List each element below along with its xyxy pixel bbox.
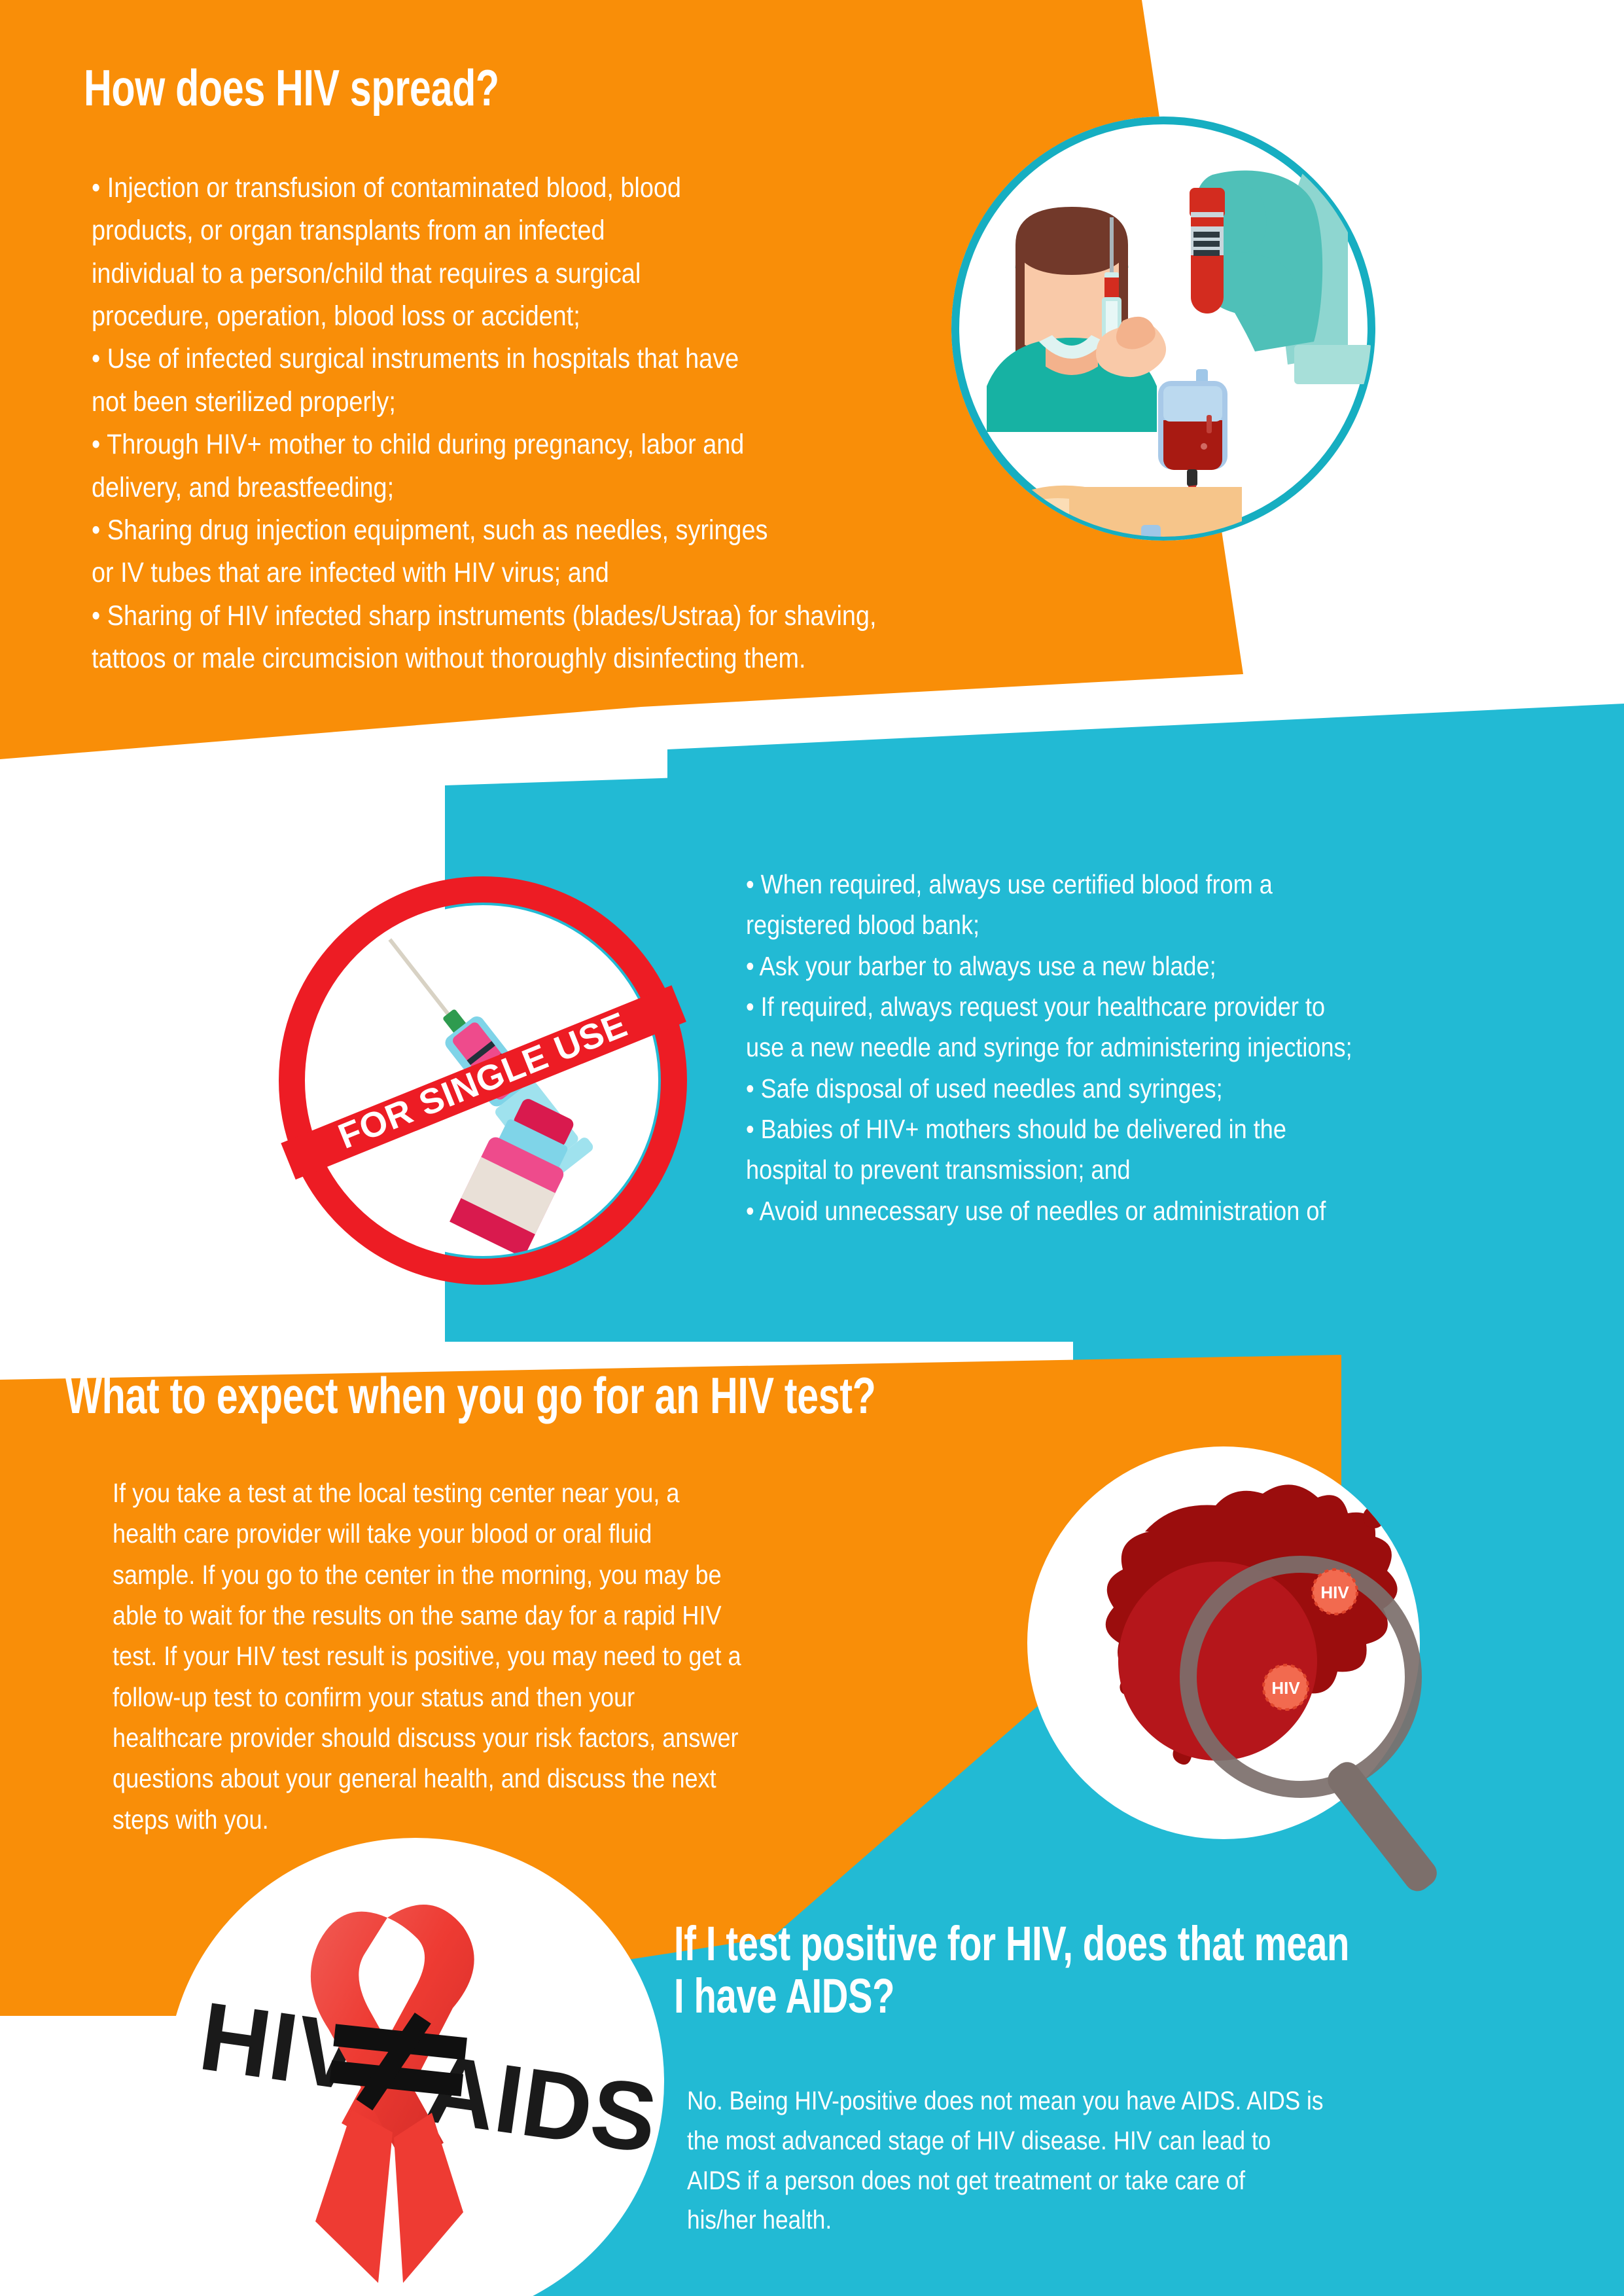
virus-badge-label-2: HIV [1271,1678,1300,1698]
heading-how-can-hiv-transmission-be-prevented: How can HIV transmission be prevented? [0,778,51,831]
body-what-to-expect-hiv-test: If you take a test at the local testing … [113,1473,917,1840]
body-line: If you take a test at the local testing … [113,1473,821,1513]
blood-sample-magnifier-illustration: HIV HIV [1027,1433,1485,1931]
body-line: • Injection or transfusion of contaminat… [92,167,990,209]
body-line: test. If your HIV test result is positiv… [113,1636,821,1676]
body-line: not been sterilized properly; [92,381,990,423]
heading-what-to-expect-hiv-test: What to expect when you go for an HIV te… [65,1368,876,1423]
body-line: • If required, always request your healt… [746,986,1466,1027]
body-if-i-test-positive-aids: No. Being HIV-positive does not mean you… [687,2081,1511,2240]
body-line: follow-up test to confirm your status an… [113,1677,821,1717]
single-use-syringe-prohibition-illustration: FOR SINGLE USE [260,855,705,1300]
body-line: registered blood bank; [746,905,1466,945]
hiv-not-equal-aids-ribbon-illustration: HIV AIDS [157,1852,720,2296]
body-line: • When required, always use certified bl… [746,864,1466,905]
body-line: • Ask your barber to always use a new bl… [746,946,1466,986]
body-line: • Avoid unnecessary use of needles or ad… [746,1191,1466,1231]
heading-how-does-hiv-spread: How does HIV spread? [84,60,499,115]
body-line: questions about your general health, and… [113,1758,821,1799]
body-line: use a new needle and syringe for adminis… [746,1027,1466,1067]
body-line: • Safe disposal of used needles and syri… [746,1068,1466,1109]
body-how-does-hiv-spread: • Injection or transfusion of contaminat… [92,167,1112,680]
body-line: or IV tubes that are infected with HIV v… [92,552,990,594]
body-line: • Through HIV+ mother to child during pr… [92,423,990,466]
body-line: his/her health. [687,2200,1413,2240]
body-line: • Babies of HIV+ mothers should be deliv… [746,1109,1466,1149]
body-line: healthcare provider should discuss your … [113,1717,821,1758]
body-line: sample. If you go to the center in the m… [113,1554,821,1595]
body-line: • Sharing of HIV infected sharp instrume… [92,595,990,637]
blood-test-tube-icon [1190,188,1225,314]
body-line: products, or organ transplants from an i… [92,209,990,252]
body-line: • Sharing drug injection equipment, such… [92,509,990,552]
heading-if-i-test-positive-aids: If I test positive for HIV, does that me… [674,1918,1365,2022]
body-line: able to wait for the results on the same… [113,1595,821,1636]
body-line: tattoos or male circumcision without tho… [92,637,990,680]
body-line: • Use of infected surgical instruments i… [92,338,990,380]
body-line: hospital to prevent transmission; and [746,1149,1466,1190]
hiv-virus-badge-1: HIV [1313,1570,1357,1614]
body-line: individual to a person/child that requir… [92,253,990,295]
body-how-can-hiv-transmission-be-prevented: • When required, always use certified bl… [746,864,1564,1231]
body-line: steps with you. [113,1799,821,1840]
body-line: No. Being HIV-positive does not mean you… [687,2081,1413,2121]
body-line: the most advanced stage of HIV disease. … [687,2121,1413,2161]
body-line: delivery, and breastfeeding; [92,467,990,509]
body-line: procedure, operation, blood loss or acci… [92,295,990,338]
body-line: AIDS if a person does not get treatment … [687,2161,1413,2201]
hiv-virus-badge-2: HIV [1263,1665,1308,1710]
virus-badge-label-1: HIV [1320,1583,1349,1602]
infographic-page: FOR SINGLE USE [0,0,1624,2296]
body-line: health care provider will take your bloo… [113,1513,821,1554]
